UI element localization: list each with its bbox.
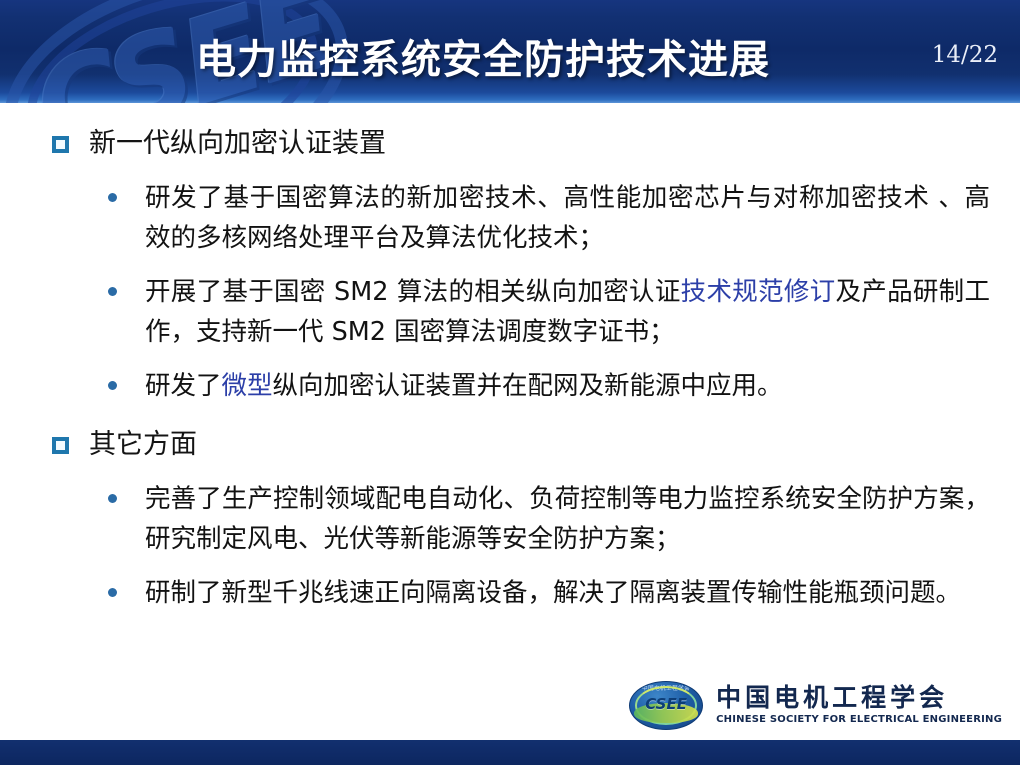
footer-org-name-en: CHINESE SOCIETY FOR ELECTRICAL ENGINEERI…: [716, 712, 1002, 727]
list-item-text: 研发了微型纵向加密认证装置并在配网及新能源中应用。: [145, 366, 783, 406]
list-item-text: 研发了基于国密算法的新加密技术、高性能加密芯片与对称加密技术 、高效的多核网络处…: [145, 178, 990, 258]
dot-bullet-icon: [108, 287, 117, 296]
text-run: 研发了: [145, 371, 222, 401]
highlighted-text-run: 微型: [222, 371, 273, 401]
square-bullet-icon: [52, 136, 69, 153]
footer-org-names: 中国电机工程学会 CHINESE SOCIETY FOR ELECTRICAL …: [716, 684, 1002, 727]
list-item-text: 开展了基于国密 SM2 算法的相关纵向加密认证技术规范修订及产品研制工作，支持新…: [145, 272, 990, 352]
csee-emblem-icon: 中国电机工程学会 CSEE: [629, 681, 703, 730]
section-heading-1: 新一代纵向加密认证装置: [0, 125, 1020, 162]
page-title: 电力监控系统安全防护技术进展: [196, 27, 770, 85]
page-number-indicator: 14/22: [932, 42, 998, 68]
list-item: 研发了微型纵向加密认证装置并在配网及新能源中应用。: [0, 366, 1020, 406]
footer-bar: [0, 740, 1020, 765]
list-item: 研发了基于国密算法的新加密技术、高性能加密芯片与对称加密技术 、高效的多核网络处…: [0, 178, 1020, 258]
dot-bullet-icon: [108, 494, 117, 503]
text-run: 纵向加密认证装置并在配网及新能源中应用。: [273, 371, 783, 401]
list-item-text: 完善了生产控制领域配电自动化、负荷控制等电力监控系统安全防护方案，研究制定风电、…: [145, 479, 990, 559]
text-run: 完善了生产控制领域配电自动化、负荷控制等电力监控系统安全防护方案，研究制定风电、…: [145, 484, 990, 554]
presentation-slide: CSEE 电力监控系统安全防护技术进展 14/22 新一代纵向加密认证装置 研发…: [0, 0, 1020, 765]
emblem-letters: CSEE: [630, 695, 702, 713]
slide-header: CSEE 电力监控系统安全防护技术进展 14/22: [0, 0, 1020, 103]
text-run: 开展了基于国密 SM2 算法的相关纵向加密认证: [145, 277, 681, 307]
section-heading-2: 其它方面: [0, 426, 1020, 463]
highlighted-text-run: 技术规范修订: [681, 277, 836, 307]
list-item: 开展了基于国密 SM2 算法的相关纵向加密认证技术规范修订及产品研制工作，支持新…: [0, 272, 1020, 352]
dot-bullet-icon: [108, 588, 117, 597]
dot-bullet-icon: [108, 193, 117, 202]
text-run: 研发了基于国密算法的新加密技术、高性能加密芯片与对称加密技术 、高效的多核网络处…: [145, 183, 990, 253]
list-item-text: 研制了新型千兆线速正向隔离设备，解决了隔离装置传输性能瓶颈问题。: [145, 573, 961, 613]
footer-organization-logo: 中国电机工程学会 CSEE 中国电机工程学会 CHINESE SOCIETY F…: [629, 681, 1002, 730]
dot-bullet-icon: [108, 381, 117, 390]
section-heading-label: 其它方面: [89, 426, 197, 463]
footer-org-name-cn: 中国电机工程学会: [716, 684, 1002, 712]
text-run: 研制了新型千兆线速正向隔离设备，解决了隔离装置传输性能瓶颈问题。: [145, 578, 961, 608]
list-item: 完善了生产控制领域配电自动化、负荷控制等电力监控系统安全防护方案，研究制定风电、…: [0, 479, 1020, 559]
list-item: 研制了新型千兆线速正向隔离设备，解决了隔离装置传输性能瓶颈问题。: [0, 573, 1020, 613]
section-heading-label: 新一代纵向加密认证装置: [89, 125, 386, 162]
square-bullet-icon: [52, 437, 69, 454]
slide-body: 新一代纵向加密认证装置 研发了基于国密算法的新加密技术、高性能加密芯片与对称加密…: [0, 103, 1020, 740]
